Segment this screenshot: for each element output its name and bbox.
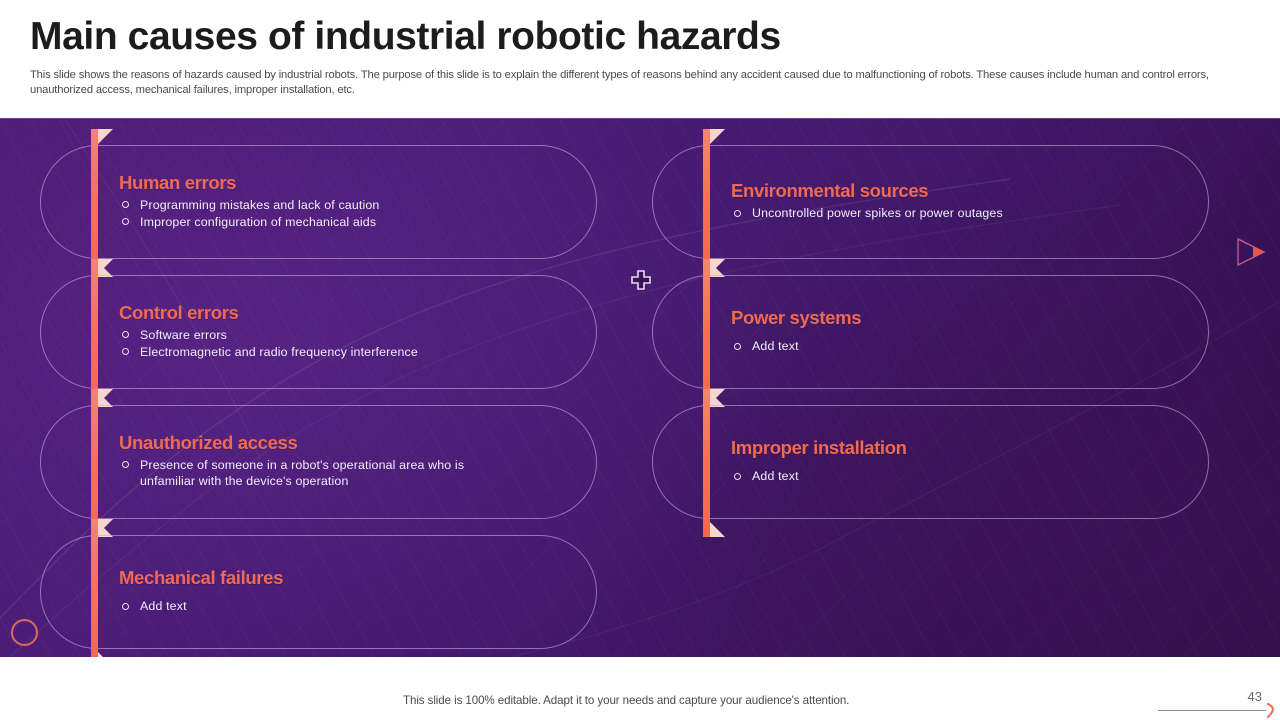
slide-description: This slide shows the reasons of hazards … [30,68,1245,98]
hazard-card-power-systems[interactable]: Power systems Add text [652,275,1209,389]
card-bullet-list: Add text [731,338,1190,355]
bullet-circle-icon [122,218,129,225]
bullet-circle-icon [122,603,129,610]
card-bullet-list: Programming mistakes and lack of caution… [119,197,578,231]
bullet-text: Electromagnetic and radio frequency inte… [140,345,418,359]
accent-bar [703,129,710,277]
bullet-text: Programming mistakes and lack of caution [140,198,379,212]
card-heading: Unauthorized access [119,432,578,454]
bullet-text: Improper configuration of mechanical aid… [140,215,376,229]
card-bullet-list: Presence of someone in a robot's operati… [119,457,578,491]
hazard-card-improper-installation[interactable]: Improper installation Add text [652,405,1209,519]
accent-tip-top-icon [98,389,113,404]
hazard-card-mechanical-failures[interactable]: Mechanical failures Add text [40,535,597,649]
card-bullet-list: Software errors Electromagnetic and radi… [119,327,578,361]
chevron-right-icon [1265,702,1278,719]
play-triangle-icon [1234,235,1268,269]
list-item: Programming mistakes and lack of caution [119,197,578,214]
card-heading: Control errors [119,302,578,324]
card-heading: Improper installation [731,437,1190,459]
bullet-circle-icon [122,348,129,355]
accent-bar [91,259,98,407]
card-heading: Environmental sources [731,180,1190,202]
slide-footer: This slide is 100% editable. Adapt it to… [0,657,1280,720]
bullet-text: Presence of someone in a robot's operati… [140,458,464,489]
accent-bar [91,519,98,657]
list-item: Electromagnetic and radio frequency inte… [119,344,578,361]
list-item: Improper configuration of mechanical aid… [119,214,578,231]
bullet-placeholder-text[interactable]: Add text [752,469,799,483]
card-content: Human errors Programming mistakes and la… [119,146,578,258]
card-heading: Power systems [731,307,1190,329]
accent-tip-top-icon [710,389,725,404]
card-bullet-list: Add text [731,468,1190,485]
list-item[interactable]: Add text [731,468,1190,485]
card-content: Control errors Software errors Electroma… [119,276,578,388]
bullet-circle-icon [734,343,741,350]
card-heading: Human errors [119,172,578,194]
accent-bar [91,129,98,277]
card-content: Power systems Add text [731,276,1190,388]
bullet-circle-icon [122,331,129,338]
page-title: Main causes of industrial robotic hazard… [30,14,1250,60]
page-number: 43 [1248,689,1262,704]
bullet-placeholder-text[interactable]: Add text [752,339,799,353]
accent-tip-top-icon [710,259,725,274]
accent-tip-top-icon [98,129,113,144]
list-item[interactable]: Add text [119,598,578,615]
bullet-text: Uncontrolled power spikes or power outag… [752,206,1003,220]
accent-tip-top-icon [98,259,113,274]
card-heading: Mechanical failures [119,567,578,589]
slide-root: Main causes of industrial robotic hazard… [0,0,1280,720]
bullet-circle-icon [122,201,129,208]
editable-note: This slide is 100% editable. Adapt it to… [403,694,849,707]
accent-bar [703,259,710,407]
accent-tip-top-icon [710,129,725,144]
list-item: Uncontrolled power spikes or power outag… [731,205,1190,222]
hazard-card-unauthorized-access[interactable]: Unauthorized access Presence of someone … [40,405,597,519]
hazard-card-control-errors[interactable]: Control errors Software errors Electroma… [40,275,597,389]
card-content: Environmental sources Uncontrolled power… [731,146,1190,258]
list-item: Software errors [119,327,578,344]
card-bullet-list: Add text [119,598,578,615]
card-content: Unauthorized access Presence of someone … [119,406,578,518]
accent-bar [91,389,98,537]
accent-tip-top-icon [98,519,113,534]
card-content: Improper installation Add text [731,406,1190,518]
accent-tip-bottom-icon [710,522,725,537]
hazard-card-environmental-sources[interactable]: Environmental sources Uncontrolled power… [652,145,1209,259]
accent-bar [703,389,710,537]
move-plus-cursor-icon [630,269,652,291]
bullet-circle-icon [734,210,741,217]
circle-outline-icon [11,619,38,646]
bullet-circle-icon [122,461,129,468]
list-item: Presence of someone in a robot's operati… [119,457,494,490]
card-bullet-list: Uncontrolled power spikes or power outag… [731,205,1190,222]
hazard-card-human-errors[interactable]: Human errors Programming mistakes and la… [40,145,597,259]
page-number-rule [1158,710,1266,711]
card-content: Mechanical failures Add text [119,536,578,648]
bullet-placeholder-text[interactable]: Add text [140,599,187,613]
content-canvas: Human errors Programming mistakes and la… [0,118,1280,657]
bullet-circle-icon [734,473,741,480]
bullet-text: Software errors [140,328,227,342]
slide-header: Main causes of industrial robotic hazard… [0,0,1280,118]
list-item[interactable]: Add text [731,338,1190,355]
